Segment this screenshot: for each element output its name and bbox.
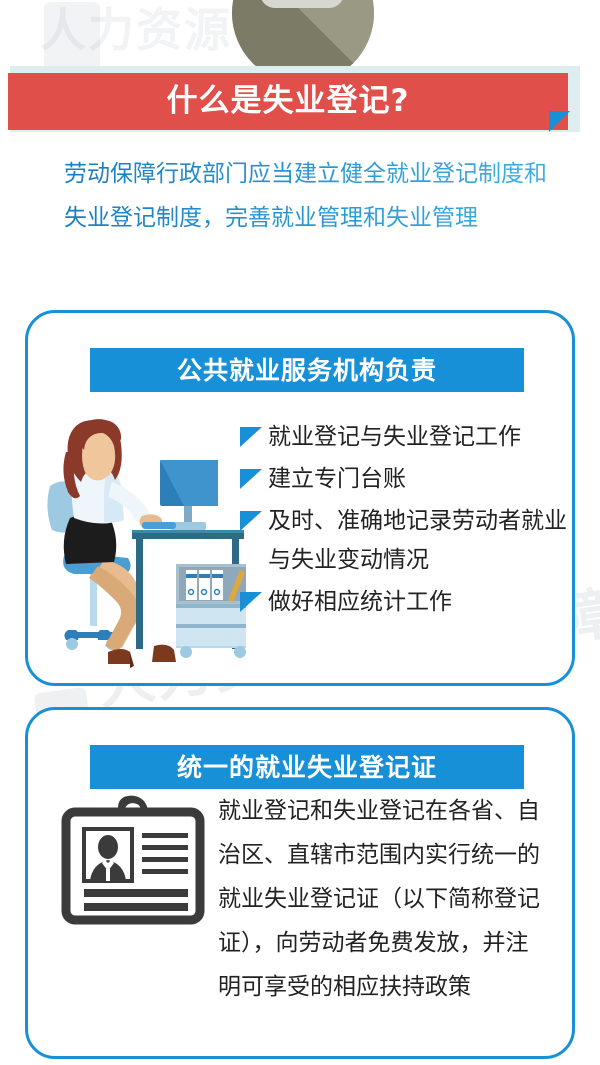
triangle-bullet-icon bbox=[240, 427, 262, 447]
list-item-label: 做好相应统计工作 bbox=[268, 583, 452, 622]
banner-corner-triangle-icon bbox=[549, 111, 570, 132]
list-item-label: 建立专门台账 bbox=[268, 460, 406, 499]
watermark-top: 人力资源 bbox=[40, 0, 232, 60]
triangle-bullet-icon bbox=[240, 511, 262, 531]
list-item: 及时、准确地记录劳动者就业与失业变动情况 bbox=[240, 502, 570, 580]
list-item: 建立专门台账 bbox=[240, 460, 570, 499]
card-two-header: 统一的就业失业登记证 bbox=[90, 745, 524, 789]
list-item: 做好相应统计工作 bbox=[240, 583, 570, 622]
certificate-paragraph: 就业登记和失业登记在各省、自治区、直辖市范围内实行统一的就业失业登记证（以下简称… bbox=[218, 789, 548, 1009]
card-public-employment-agency: 公共就业服务机构负责 bbox=[25, 310, 575, 686]
intro-paragraph: 劳动保障行政部门应当建立健全就业登记制度和失业登记制度，完善就业管理和失业管理 bbox=[64, 152, 564, 240]
banner-red-bar: 什么是失业登记? bbox=[8, 73, 568, 130]
list-item-label: 及时、准确地记录劳动者就业与失业变动情况 bbox=[268, 502, 570, 580]
top-decoration-pill bbox=[260, 0, 344, 8]
list-item-label: 就业登记与失业登记工作 bbox=[268, 418, 521, 457]
list-item: 就业登记与失业登记工作 bbox=[240, 418, 570, 457]
card-one-body: 就业登记与失业登记工作 建立专门台账 及时、准确地记录劳动者就业与失业变动情况 … bbox=[28, 408, 572, 683]
woman-at-desk-illustration bbox=[46, 408, 246, 678]
page-title: 什么是失业登记? bbox=[167, 86, 410, 117]
triangle-bullet-icon bbox=[240, 469, 262, 489]
triangle-bullet-icon bbox=[240, 592, 262, 612]
responsibility-bullet-list: 就业登记与失业登记工作 建立专门台账 及时、准确地记录劳动者就业与失业变动情况 … bbox=[240, 418, 570, 625]
card-one-header: 公共就业服务机构负责 bbox=[90, 348, 524, 392]
id-badge-icon bbox=[58, 795, 208, 927]
card-unified-registration-certificate: 统一的就业失业登记证 就业登记和失业登记在各省、自治区、直辖市范围内实行统一的就… bbox=[25, 707, 575, 1059]
watermark-badge-top bbox=[44, 2, 100, 74]
title-banner: 什么是失业登记? bbox=[0, 66, 600, 136]
card-one-header-label: 公共就业服务机构负责 bbox=[177, 358, 437, 383]
card-two-header-label: 统一的就业失业登记证 bbox=[177, 755, 437, 780]
